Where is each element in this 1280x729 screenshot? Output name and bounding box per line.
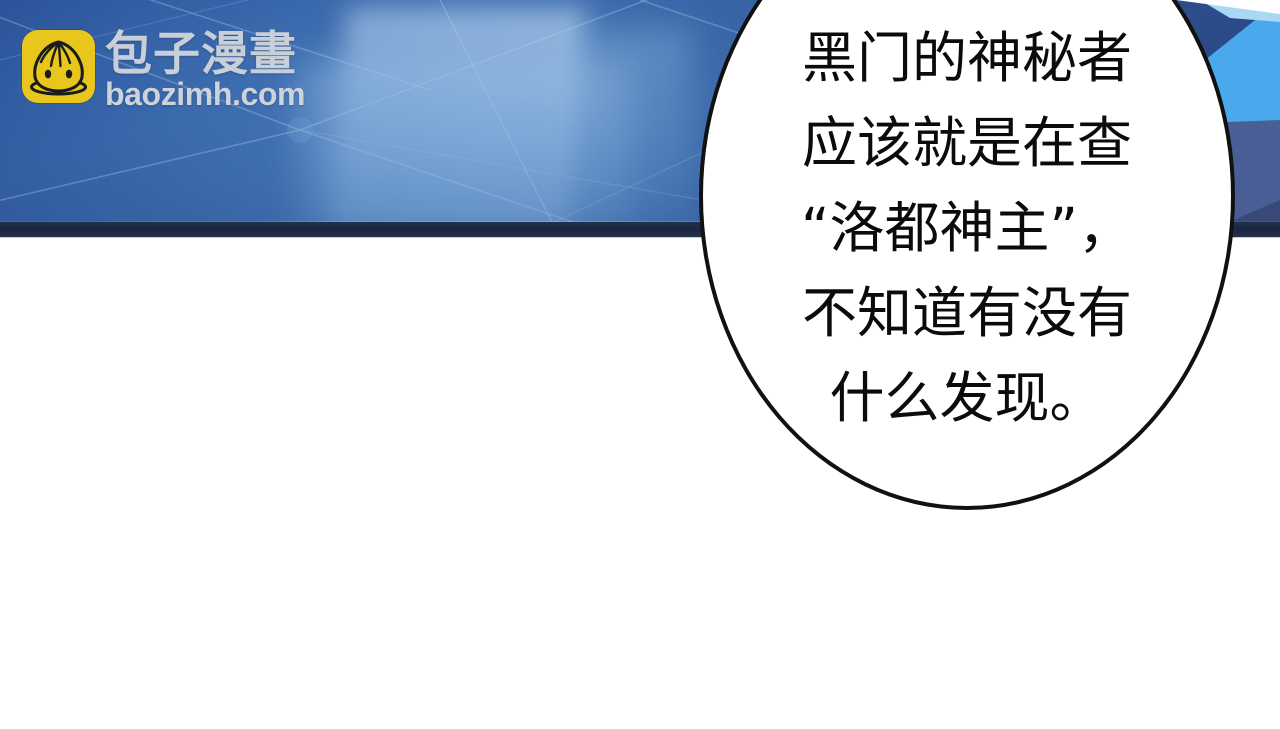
light-glow-primary bbox=[330, 8, 586, 233]
comic-page: 包子漫畫 baozimh.com 黑门的神秘者 应该就是在查 “洛都神主”， 不… bbox=[0, 0, 1280, 729]
dialogue-line: 什么发现。 bbox=[699, 356, 1235, 441]
light-ray bbox=[560, 28, 690, 228]
baozi-bun-logo-icon bbox=[22, 30, 95, 103]
site-watermark: 包子漫畫 baozimh.com bbox=[22, 30, 305, 110]
dialogue-line: 应该就是在查 bbox=[699, 101, 1235, 186]
watermark-site-name: 包子漫畫 bbox=[105, 30, 305, 77]
watermark-text: 包子漫畫 baozimh.com bbox=[105, 30, 305, 110]
speech-bubble-text: 黑门的神秘者 应该就是在查 “洛都神主”， 不知道有没有 什么发现。 bbox=[699, 16, 1235, 441]
dialogue-line: “洛都神主”， bbox=[699, 186, 1235, 271]
watermark-site-url: baozimh.com bbox=[105, 78, 305, 110]
dialogue-line: 不知道有没有 bbox=[699, 271, 1235, 356]
dialogue-line: 黑门的神秘者 bbox=[699, 16, 1235, 101]
